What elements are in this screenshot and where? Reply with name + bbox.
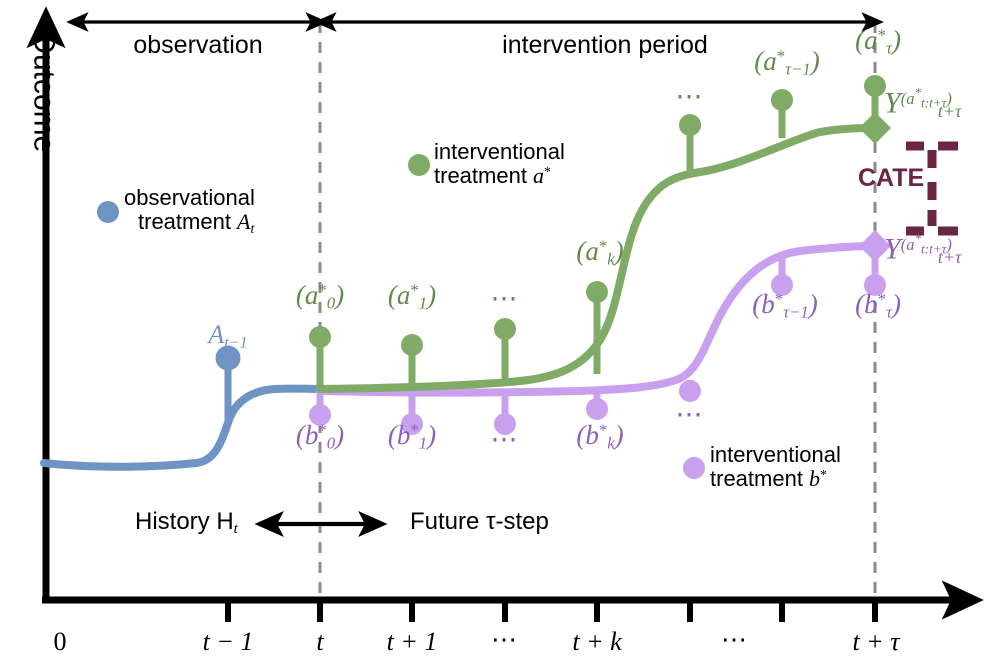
green-stem-label-3: (a*k) <box>558 237 642 269</box>
diagram-svg <box>0 0 997 671</box>
purple-stem-label-6: (b*τ) <box>836 290 920 322</box>
legend-observational-symbol: A <box>237 209 250 234</box>
legend-observational: observational treatment At <box>124 186 255 236</box>
legend-dot-interventional-b <box>683 457 705 479</box>
green-stem-label-0-symbol: a <box>305 280 319 310</box>
legend-interventional-b-prefix: treatment <box>710 466 809 491</box>
green-stem-label-1-sub: 1 <box>419 294 427 313</box>
purple-stem-label-0-symbol: b <box>305 420 319 450</box>
purple-stem-label-0-sub: 0 <box>327 434 335 453</box>
green-stem-label-3-symbol: a <box>585 236 599 266</box>
legend-interventional-b-symbol: b <box>809 466 820 491</box>
legend-interventional-a: interventional treatment a* <box>434 140 565 188</box>
purple-stem-label-5-star: * <box>775 289 783 308</box>
purple-stem-label-1-star: * <box>410 420 418 439</box>
legend-observational-subscript: t <box>251 221 255 236</box>
outcome-label-green-base: Y <box>884 86 901 119</box>
green-stem-label-5: (a*τ−1) <box>738 47 836 79</box>
legend-observational-line2: treatment At <box>124 210 255 236</box>
green-stem-label-1: (a*1) <box>372 281 452 313</box>
purple-stem-label-5: (b*τ−1) <box>736 290 834 322</box>
future-label: Future τ-step <box>410 509 549 535</box>
green-stem-label-1-symbol: a <box>397 280 411 310</box>
purple-stem-label-3-star: * <box>599 420 607 439</box>
history-label-text: History H <box>135 508 234 535</box>
purple-stem-label-3-symbol: b <box>585 420 599 450</box>
purple-stem-label-6-star: * <box>878 289 886 308</box>
legend-interventional-b-star: * <box>820 467 827 482</box>
purple-stem-label-0-star: * <box>318 420 326 439</box>
cate-label: CATE <box>858 165 924 193</box>
purple-stem-label-2-ellipsis: ⋯ <box>465 425 545 455</box>
y-axis-title: Outcome <box>28 22 61 162</box>
green-stem-label-5-star: * <box>777 46 785 65</box>
green-stem-label-0-star: * <box>318 280 326 299</box>
legend-dot-interventional-a <box>408 154 430 176</box>
purple-stem-label-4-ellipsis: ⋯ <box>650 400 730 430</box>
purple-stem-label-3: (b*k) <box>558 421 642 453</box>
legend-interventional-b-line1: interventional <box>710 443 841 467</box>
outcome-label-purple-base: Y <box>884 232 901 265</box>
purple-stem-label-5-sub: τ−1 <box>783 303 809 322</box>
green-stem-label-6-symbol: a <box>864 25 878 55</box>
legend-observational-prefix: treatment <box>138 209 237 234</box>
purple-stem-label-6-symbol: b <box>864 289 878 319</box>
figure-canvas: Outcome observation intervention period … <box>0 0 997 671</box>
legend-interventional-a-line2: treatment a* <box>434 164 565 188</box>
legend-interventional-b-line2: treatment b* <box>710 467 841 491</box>
purple-stem-label-0: (b*0) <box>280 421 360 453</box>
outcome-label-green-subscript: t+τ <box>938 101 962 121</box>
green-stem-label-0-sub: 0 <box>327 294 335 313</box>
history-label: History Ht <box>135 509 238 538</box>
x-origin-label: 0 <box>38 628 82 657</box>
legend-interventional-a-star: * <box>544 164 551 179</box>
intervention-period-label: intervention period <box>470 32 740 60</box>
purple-stem-label-1: (b*1) <box>372 421 452 453</box>
purple-stem-label-1-symbol: b <box>397 420 411 450</box>
history-label-subscript: t <box>234 521 238 537</box>
green-stem-label-3-star: * <box>599 236 607 255</box>
green-stem-label-1-star: * <box>410 280 418 299</box>
stem-label-A-t-minus-1: At−1 <box>188 320 268 352</box>
outcome-label-green: Y(a*t:t+τ)t+τ <box>884 86 961 122</box>
legend-interventional-a-prefix: treatment <box>434 163 533 188</box>
green-stem-label-6-star: * <box>878 25 886 44</box>
green-stem-label-5-symbol: a <box>763 46 777 76</box>
x-tick-label-0: t − 1 <box>186 628 270 657</box>
observation-period-label: observation <box>98 32 298 60</box>
green-stem-label-6: (a*τ) <box>836 26 920 58</box>
x-tick-label-3: ⋯ <box>470 626 540 655</box>
green-stem-label-3-sub: k <box>607 250 614 269</box>
legend-dot-observational <box>97 201 119 223</box>
outcome-label-purple: Y(a*t:t+τ)t+τ <box>884 232 961 268</box>
green-stem-label-2-ellipsis: ⋯ <box>465 284 545 314</box>
green-stem-label-5-sub: τ−1 <box>785 60 811 79</box>
outcome-label-purple-subscript: t+τ <box>938 247 962 267</box>
legend-observational-line1: observational <box>124 186 255 210</box>
x-axis <box>42 600 960 622</box>
observational-trajectory <box>44 346 320 467</box>
purple-stem-label-1-sub: 1 <box>419 434 427 453</box>
legend-interventional-a-line1: interventional <box>434 140 565 164</box>
x-tick-label-2: t + 1 <box>370 628 454 657</box>
legend-interventional-b: interventional treatment b* <box>710 443 841 491</box>
green-stem-label-4-ellipsis: ⋯ <box>650 82 730 112</box>
x-tick-label-1: t <box>292 628 348 657</box>
x-tick-label-7: t + τ <box>832 628 920 657</box>
stem-label-A-symbol: A <box>208 320 224 349</box>
x-tick-label-5: ⋯ <box>700 626 770 655</box>
stem-label-A-subscript: t−1 <box>224 335 247 352</box>
purple-stem-label-5-symbol: b <box>761 289 775 319</box>
x-tick-label-4: t + k <box>553 628 641 657</box>
purple-stem-label-3-sub: k <box>607 434 614 453</box>
legend-interventional-a-symbol: a <box>533 163 544 188</box>
green-stem-label-0: (a*0) <box>280 281 360 313</box>
